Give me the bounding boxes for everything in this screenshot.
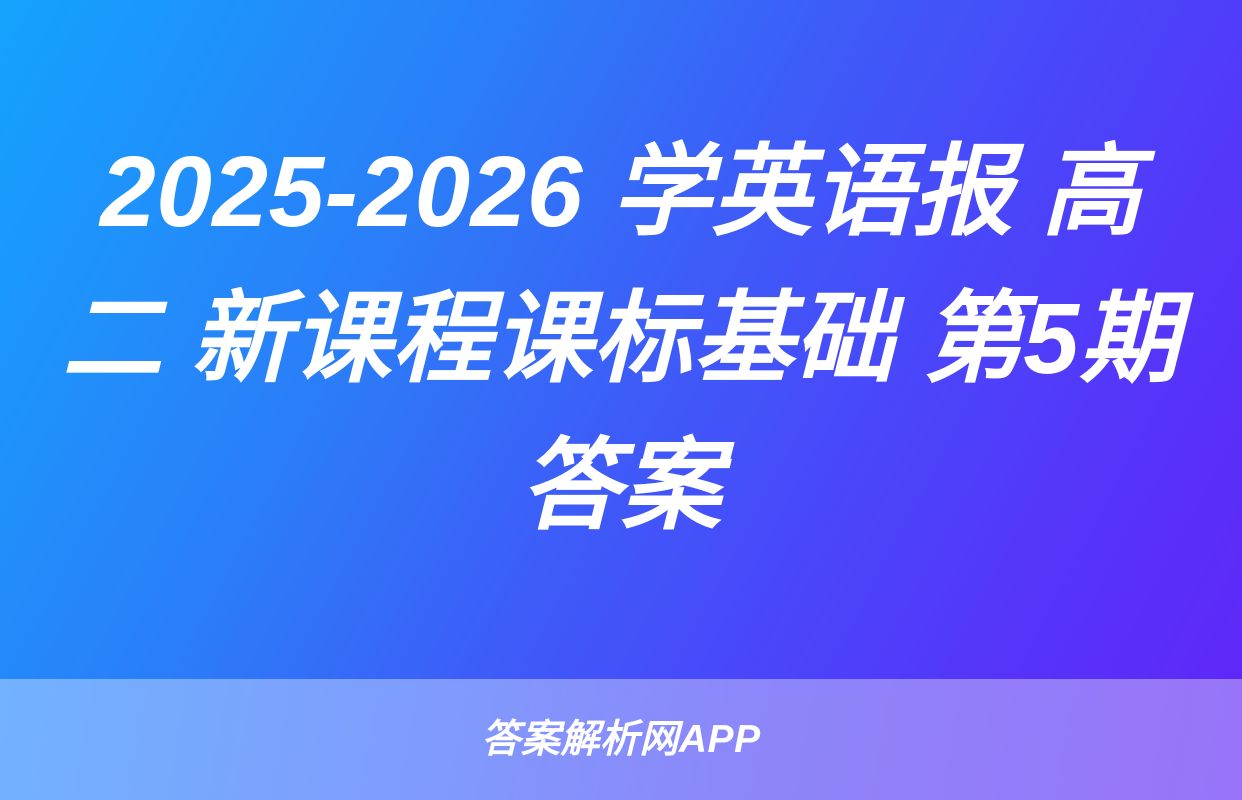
app-watermark-label: 答案解析网APP [481, 720, 760, 759]
poster-title: 2025-2026 学英语报 高二 新课程课标基础 第5期答案 [56, 119, 1186, 560]
poster-canvas: 2025-2026 学英语报 高二 新课程课标基础 第5期答案 答案解析网APP [0, 0, 1242, 800]
title-block: 2025-2026 学英语报 高二 新课程课标基础 第5期答案 [0, 0, 1242, 679]
footer-block: 答案解析网APP [0, 679, 1242, 800]
